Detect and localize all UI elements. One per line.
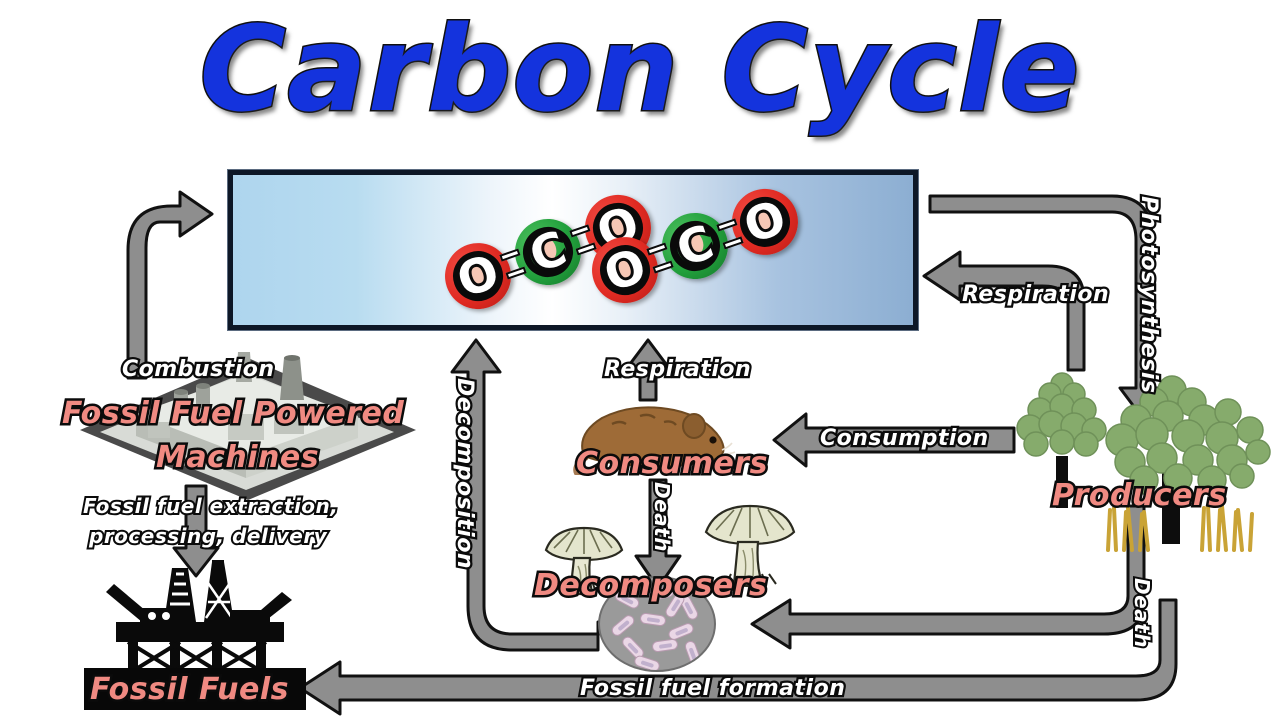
label-respiration-center: Respiration bbox=[604, 357, 751, 382]
label-decomposers: Decomposers bbox=[534, 568, 767, 603]
arrow-respiration-right bbox=[924, 252, 1084, 370]
atom-label: O bbox=[738, 193, 791, 250]
atmosphere-box: O C O O bbox=[228, 170, 918, 330]
label-producers: Producers bbox=[1052, 478, 1227, 513]
atom-label: O bbox=[451, 247, 504, 304]
label-extraction-line1: Fossil fuel extraction, bbox=[83, 494, 338, 518]
label-respiration-right: Respiration bbox=[962, 282, 1109, 307]
label-extraction-line2: processing, delivery bbox=[89, 524, 327, 548]
label-photosynthesis: Photosynthesis bbox=[1136, 196, 1161, 393]
label-death-center: Death bbox=[650, 482, 674, 552]
label-fossil-fuels: Fossil Fuels bbox=[90, 672, 289, 707]
label-combustion: Combustion bbox=[122, 357, 275, 382]
oil-rig-icon bbox=[84, 560, 314, 680]
label-consumers: Consumers bbox=[576, 446, 768, 481]
label-consumption: Consumption bbox=[820, 426, 989, 451]
label-fossil-fuel-machines-line1: Fossil Fuel Powered bbox=[62, 396, 404, 431]
label-death-right: Death bbox=[1130, 578, 1154, 648]
arrow-combustion bbox=[128, 192, 212, 378]
carbon-cycle-diagram: Carbon Cycle O bbox=[0, 0, 1280, 720]
trees-icon bbox=[1012, 372, 1280, 552]
label-fossil-fuel-machines-line2: Machines bbox=[156, 440, 319, 475]
atom-label: O bbox=[598, 241, 651, 298]
label-fossil-fuel-formation: Fossil fuel formation bbox=[580, 676, 845, 701]
label-decomposition: Decomposition bbox=[452, 378, 477, 569]
